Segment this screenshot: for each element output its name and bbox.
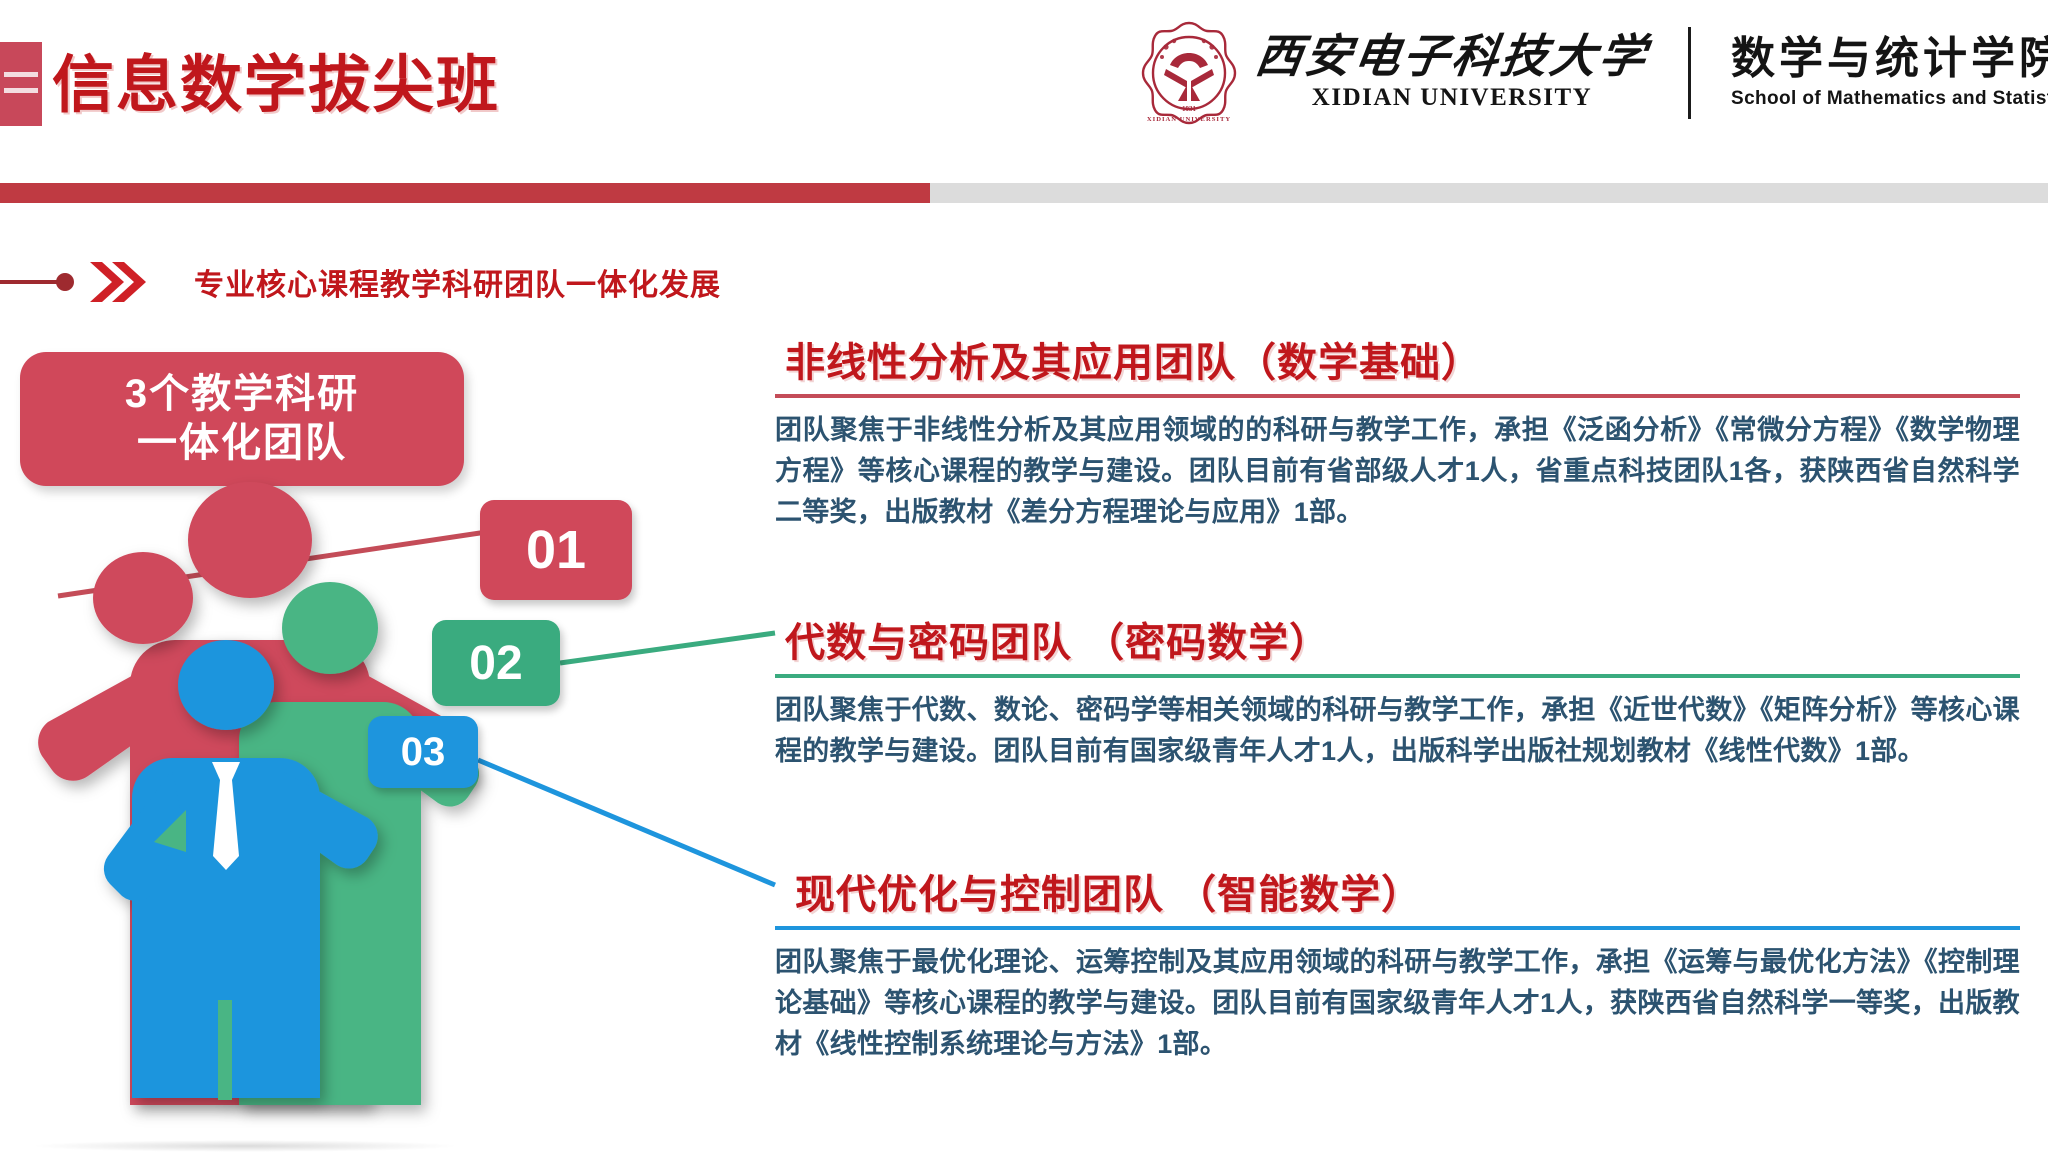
badge-02[interactable]: 02 — [432, 620, 560, 706]
xidian-crest-icon: 1931 XIDIAN UNIVERSITY — [1140, 19, 1238, 127]
team-people-illustration — [0, 440, 500, 1152]
team-section-2-rule — [775, 674, 2020, 678]
subtitle-lead-line — [0, 280, 58, 284]
illustration-ground-shadow — [30, 1140, 460, 1152]
double-chevron-right-icon — [88, 260, 150, 304]
figure-red-secondary-head — [93, 552, 193, 644]
logo-divider — [1688, 27, 1691, 119]
team-section-3-heading: 现代优化与控制团队 （智能数学） — [795, 862, 2020, 920]
school-name-group: 数学与统计学院 School of Mathematics and Statis… — [1731, 36, 2048, 109]
svg-text:XIDIAN UNIVERSITY: XIDIAN UNIVERSITY — [1147, 116, 1231, 123]
team-section-1-body: 团队聚焦于非线性分析及其应用领域的的科研与教学工作，承担《泛函分析》《常微分方程… — [775, 410, 2020, 533]
team-section-1-heading: 非线性分析及其应用团队（数学基础） — [785, 330, 2020, 388]
team-section-1: 非线性分析及其应用团队（数学基础） 团队聚焦于非线性分析及其应用领域的的科研与教… — [775, 330, 2020, 533]
university-name-en: XIDIAN UNIVERSITY — [1312, 84, 1592, 112]
school-name-cn: 数学与统计学院 — [1731, 36, 2048, 82]
badge-01[interactable]: 01 — [480, 500, 632, 600]
header-divider-red — [0, 183, 930, 203]
team-section-3: 现代优化与控制团队 （智能数学） 团队聚焦于最优化理论、运筹控制及其应用领域的科… — [775, 862, 2020, 1065]
slide-canvas: 信息数学拔尖班 — [0, 0, 2048, 1152]
subtitle-row: 专业核心课程教学科研团队一体化发展 — [0, 258, 721, 306]
team-section-3-body: 团队聚焦于最优化理论、运筹控制及其应用领域的科研与教学工作，承担《运筹与最优化方… — [775, 942, 2020, 1065]
page-title: 信息数学拔尖班 — [52, 34, 500, 124]
svg-text:1931: 1931 — [1182, 105, 1197, 113]
university-name-group: 西安电子科技大学 XIDIAN UNIVERSITY — [1256, 34, 1648, 112]
team-section-2-heading: 代数与密码团队 （密码数学） — [785, 610, 2020, 668]
badge-03[interactable]: 03 — [368, 716, 478, 788]
school-name-en: School of Mathematics and Statistics — [1731, 88, 2048, 110]
team-section-2: 代数与密码团队 （密码数学） 团队聚焦于代数、数论、密码学等相关领域的科研与教学… — [775, 610, 2020, 772]
team-section-3-rule — [775, 926, 2020, 930]
university-logo-block: 1931 XIDIAN UNIVERSITY 西安电子科技大学 XIDIAN U… — [1140, 18, 2048, 128]
team-section-1-rule — [775, 394, 2020, 398]
header-left-tab-decoration — [0, 42, 42, 126]
subtitle-label: 专业核心课程教学科研团队一体化发展 — [194, 260, 721, 304]
subtitle-dot-icon — [56, 273, 74, 291]
team-section-2-body: 团队聚焦于代数、数论、密码学等相关领域的科研与教学工作，承担《近世代数》《矩阵分… — [775, 690, 2020, 772]
university-name-cn: 西安电子科技大学 — [1253, 34, 1651, 80]
team-count-line1: 3个教学科研 — [125, 370, 359, 419]
